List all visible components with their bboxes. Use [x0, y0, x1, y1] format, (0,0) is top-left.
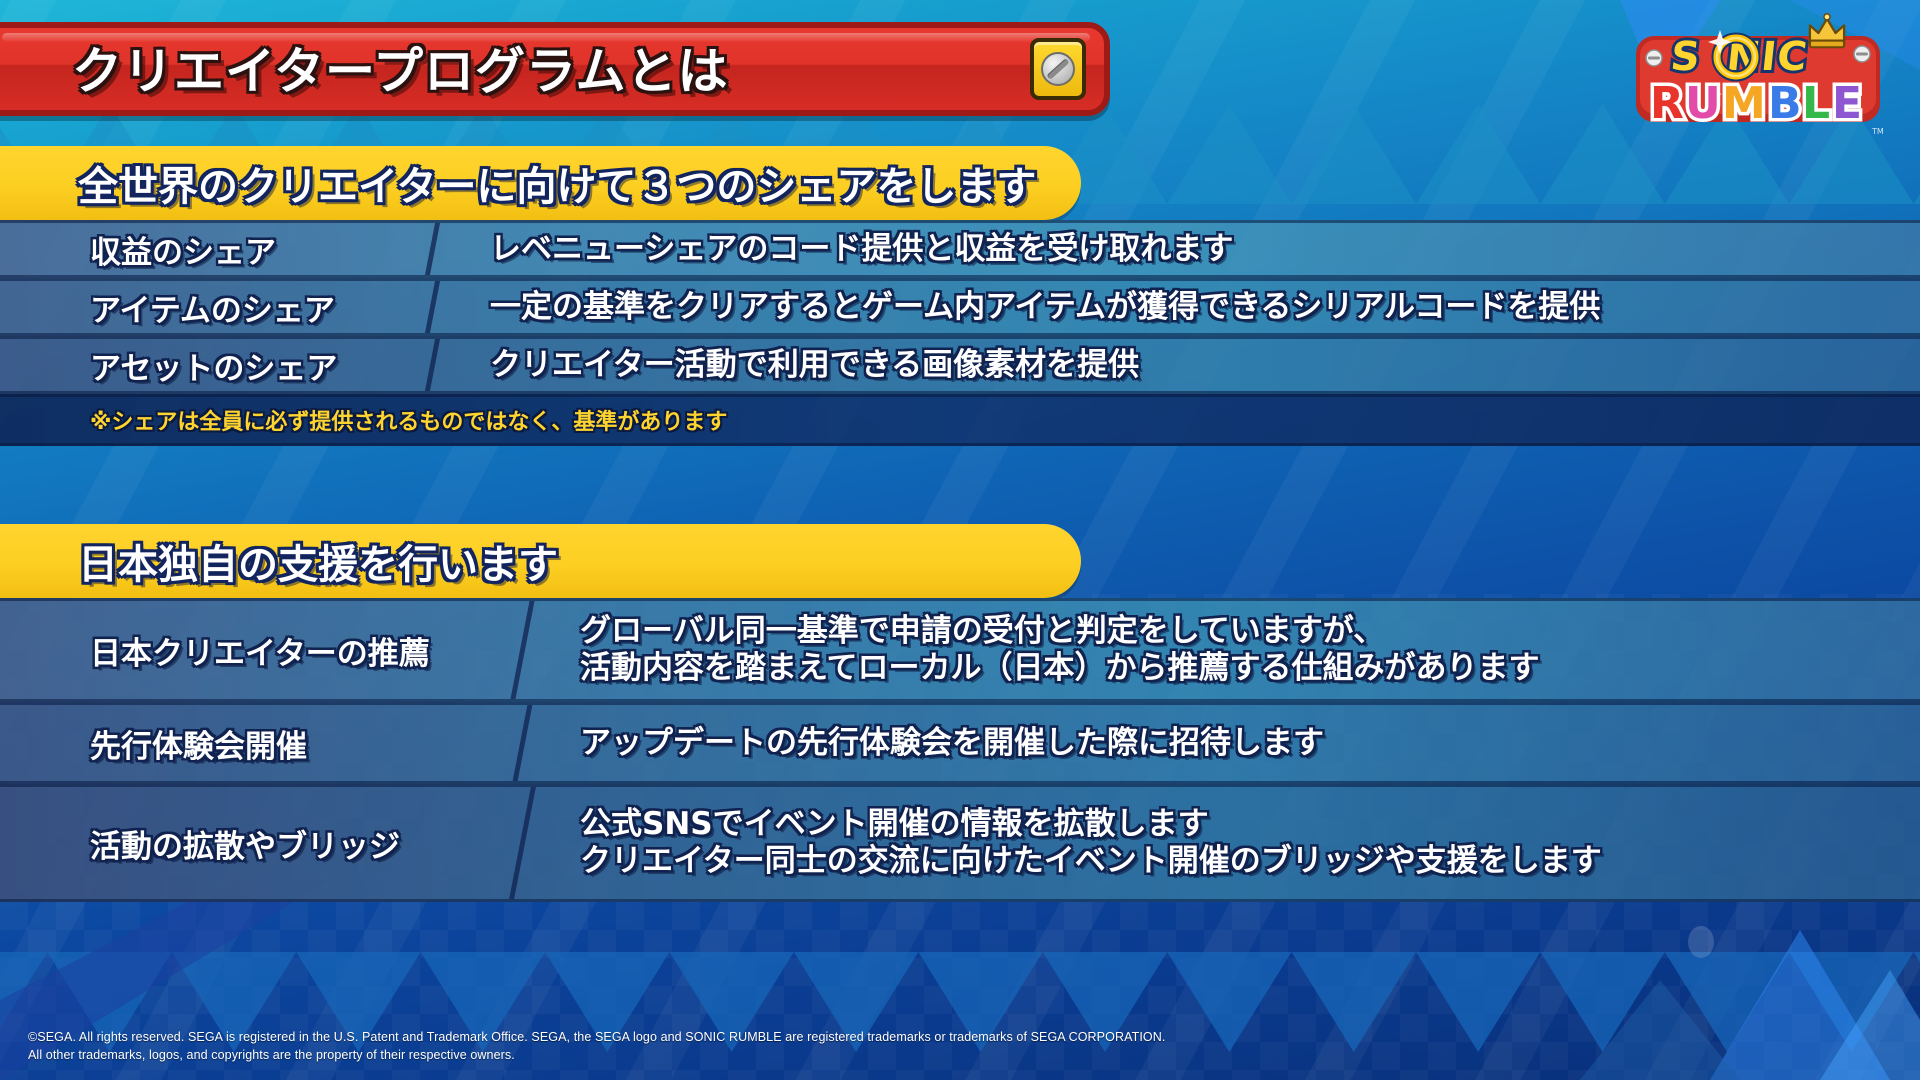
row-description: 一定の基準をクリアするとゲーム内アイテムが獲得できるシリアルコードを提供: [430, 289, 1920, 326]
row-description-line: 公式SNSでイベント開催の情報を拡散します: [580, 806, 1920, 843]
table-row: 先行体験会開催 アップデートの先行体験会を開催した際に招待します: [0, 702, 1920, 784]
section1-note: ※シェアは全員に必ず提供されるものではなく、基準があります: [90, 404, 727, 436]
section1-banner: 全世界のクリエイターに向けて３つのシェアをします: [0, 146, 1081, 220]
row-description: アップデートの先行体験会を開催した際に招待します: [520, 725, 1920, 762]
sonic-rumble-logo: S NIC R U M B L: [1622, 8, 1894, 144]
section2-banner-label: 日本独自の支援を行います: [78, 532, 558, 590]
row-label: アイテムのシェア: [0, 285, 430, 330]
section1-banner-label: 全世界のクリエイターに向けて３つのシェアをします: [78, 154, 1036, 212]
row-description-line: アップデートの先行体験会を開催した際に招待します: [580, 725, 1920, 762]
svg-text:U: U: [1685, 78, 1721, 129]
row-label: 活動の拡散やブリッジ: [0, 821, 520, 866]
row-label: アセットのシェア: [0, 343, 430, 388]
row-description: レベニューシェアのコード提供と収益を受け取れます: [430, 231, 1920, 268]
slide-title-bar: クリエイタープログラムとは: [0, 22, 1110, 116]
row-description-line: クリエイター同士の交流に向けたイベント開催のブリッジや支援をします: [580, 843, 1920, 880]
table-row: 日本クリエイターの推薦 グローバル同一基準で申請の受付と判定をしていますが、 活…: [0, 598, 1920, 702]
svg-text:S: S: [1668, 34, 1703, 80]
row-label: 日本クリエイターの推薦: [0, 628, 520, 673]
row-description-line: 一定の基準をクリアするとゲーム内アイテムが獲得できるシリアルコードを提供: [490, 289, 1920, 326]
row-description-line: レベニューシェアのコード提供と収益を受け取れます: [490, 231, 1920, 268]
row-description: クリエイター活動で利用できる画像素材を提供: [430, 347, 1920, 384]
section1-table: 収益のシェア レベニューシェアのコード提供と収益を受け取れます アイテムのシェア…: [0, 220, 1920, 394]
svg-text:R: R: [1650, 78, 1684, 129]
row-description-line: クリエイター活動で利用できる画像素材を提供: [490, 347, 1920, 384]
svg-text:L: L: [1802, 78, 1830, 129]
table-row: 収益のシェア レベニューシェアのコード提供と収益を受け取れます: [0, 220, 1920, 278]
logo-tm-mark: TM: [1871, 127, 1884, 136]
row-description-line: グローバル同一基準で申請の受付と判定をしていますが、: [580, 613, 1920, 650]
table-row: アセットのシェア クリエイター活動で利用できる画像素材を提供: [0, 336, 1920, 394]
row-label: 先行体験会開催: [0, 721, 520, 766]
svg-text:B: B: [1768, 78, 1802, 129]
row-description: 公式SNSでイベント開催の情報を拡散します クリエイター同士の交流に向けたイベン…: [520, 806, 1920, 879]
section2-table: 日本クリエイターの推薦 グローバル同一基準で申請の受付と判定をしていますが、 活…: [0, 598, 1920, 902]
copyright-footer: ©SEGA. All rights reserved. SEGA is regi…: [28, 1028, 1165, 1064]
crown-icon: [1810, 14, 1844, 47]
section1-note-band: ※シェアは全員に必ず提供されるものではなく、基準があります: [0, 394, 1920, 446]
table-row: アイテムのシェア 一定の基準をクリアするとゲーム内アイテムが獲得できるシリアルコ…: [0, 278, 1920, 336]
row-description: グローバル同一基準で申請の受付と判定をしていますが、 活動内容を踏まえてローカル…: [520, 613, 1920, 686]
screw-slot-icon: [1030, 38, 1086, 100]
section2-banner: 日本独自の支援を行います: [0, 524, 1081, 598]
copyright-line-2: All other trademarks, logos, and copyrig…: [28, 1046, 1165, 1064]
copyright-line-1: ©SEGA. All rights reserved. SEGA is regi…: [28, 1028, 1165, 1046]
table-row: 活動の拡散やブリッジ 公式SNSでイベント開催の情報を拡散します クリエイター同…: [0, 784, 1920, 902]
svg-text:E: E: [1832, 78, 1862, 129]
svg-text:M: M: [1722, 78, 1766, 129]
row-label: 収益のシェア: [0, 227, 430, 272]
screw-head: [1041, 52, 1075, 86]
page-title: クリエイタープログラムとは: [72, 32, 729, 104]
row-description-line: 活動内容を踏まえてローカル（日本）から推薦する仕組みがあります: [580, 650, 1920, 687]
